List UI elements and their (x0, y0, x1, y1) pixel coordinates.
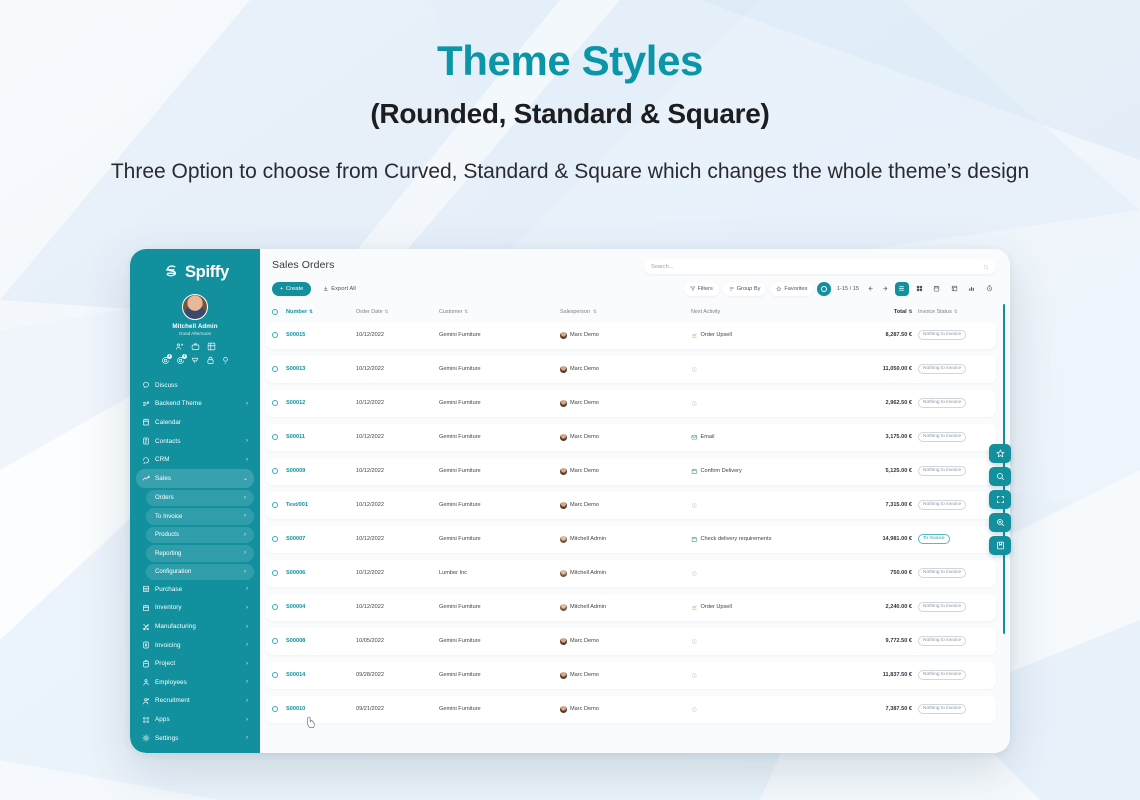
table-header: Number⇅ Order Date⇅ Customer⇅ Salesperso… (266, 302, 996, 322)
avatar (560, 536, 567, 543)
filters-button[interactable]: Filters (684, 282, 719, 296)
prev-page-button[interactable] (865, 282, 876, 296)
sidebar-item-sales[interactable]: Sales⌄ (136, 469, 254, 488)
group-by-button[interactable]: Group By (723, 282, 767, 296)
clock-icon (691, 502, 698, 509)
sidebar-item-recruitment[interactable]: Recruitment› (136, 692, 254, 711)
activity-view-button[interactable] (983, 282, 997, 296)
cell-salesperson: Marc Demo (560, 366, 691, 373)
lightbulb-icon[interactable] (221, 356, 230, 365)
search-placeholder: Search... (651, 264, 983, 270)
cell-next-activity (691, 638, 850, 645)
calendar-view-button[interactable] (930, 282, 944, 296)
sidebar-nav: DiscussBackend Theme›CalendarContacts›CR… (130, 376, 260, 753)
search-input[interactable]: Search... (644, 259, 996, 274)
avatar (560, 366, 567, 373)
quick-actions-row-1 (130, 342, 260, 351)
cell-number[interactable]: S00007 (286, 536, 356, 542)
avatar (560, 706, 567, 713)
clock-icon (691, 706, 698, 713)
badge-count: 4 (182, 354, 187, 359)
cell-customer: Gemini Furniture (439, 706, 560, 712)
pager-label: 1-15 / 15 (835, 286, 861, 292)
clock-icon (691, 570, 698, 577)
cell-invoice-status: To Invoice (912, 534, 990, 544)
status-badge: Nothing to invoice (918, 398, 966, 408)
cell-next-activity (691, 672, 850, 679)
cell-order-date: 10/05/2022 (356, 638, 439, 644)
sidebar-item-label: CRM (155, 456, 241, 463)
favorite-star-button[interactable] (989, 444, 1011, 463)
avatar[interactable] (182, 294, 208, 320)
table-row[interactable]: S0000810/05/2022Gemini FurnitureMarc Dem… (266, 628, 996, 655)
chevron-right-icon: › (244, 513, 246, 519)
sidebar-item-label: Apps (155, 716, 241, 723)
cell-order-date: 10/12/2022 (356, 502, 439, 508)
floating-action-rail (989, 444, 1011, 555)
cell-salesperson: Marc Demo (560, 672, 691, 679)
avatar (560, 468, 567, 475)
table-row[interactable]: S0001009/21/2022Gemini FurnitureMarc Dem… (266, 696, 996, 723)
chat-bubble-icon[interactable]: 4 (176, 356, 185, 365)
table-row[interactable]: S0001310/12/2022Gemini FurnitureMarc Dem… (266, 356, 996, 383)
cell-salesperson: Mitchell Admin (560, 570, 691, 577)
export-label: Export All (331, 286, 356, 292)
status-badge: Nothing to invoice (918, 568, 966, 578)
activity-label: Email (701, 434, 715, 440)
avatar (560, 570, 567, 577)
pivot-view-button[interactable] (948, 282, 962, 296)
cell-number[interactable]: S00014 (286, 672, 356, 678)
cell-total: 5,125.00 € (850, 468, 912, 474)
sidebar-item-crm[interactable]: CRM› (136, 450, 254, 469)
chevron-right-icon: › (246, 642, 248, 648)
cell-invoice-status: Nothing to invoice (912, 398, 990, 408)
cell-salesperson: Mitchell Admin (560, 604, 691, 611)
gear-icon (142, 734, 150, 742)
cell-order-date: 10/12/2022 (356, 366, 439, 372)
cell-salesperson: Marc Demo (560, 502, 691, 509)
funnel-icon (690, 286, 696, 292)
cell-total: 750.00 € (850, 570, 912, 576)
sidebar-item-label: Sales (155, 475, 238, 482)
cell-total: 11,050.00 € (850, 366, 912, 372)
column-header-order-date[interactable]: Order Date⇅ (356, 309, 439, 315)
calendar-icon (691, 536, 698, 543)
cell-order-date: 10/12/2022 (356, 570, 439, 576)
cell-customer: Gemini Furniture (439, 366, 560, 372)
calendar-icon (691, 468, 698, 475)
palette-icon (142, 400, 150, 408)
sidebar-item-inventory[interactable]: Inventory› (136, 599, 254, 618)
table-row[interactable]: S0000710/12/2022Gemini FurnitureMitchell… (266, 526, 996, 553)
chat-icon (142, 381, 150, 389)
table-row[interactable]: S0000910/12/2022Gemini FurnitureMarc Dem… (266, 458, 996, 485)
column-header-salesperson[interactable]: Salesperson⇅ (560, 309, 691, 315)
cell-next-activity (691, 502, 850, 509)
sidebar-subitem-to-invoice[interactable]: To Invoice› (146, 508, 254, 525)
sidebar-subitem-products[interactable]: Products› (146, 527, 254, 544)
chevron-down-icon: ⌄ (243, 475, 248, 482)
sidebar-item-discuss[interactable]: Discuss (136, 376, 254, 395)
handshake-icon (142, 456, 150, 464)
chevron-right-icon: › (246, 586, 248, 592)
salesperson-name: Mitchell Admin (570, 604, 606, 610)
cell-total: 2,240.00 € (850, 604, 912, 610)
next-page-button[interactable] (880, 282, 891, 296)
chevron-right-icon: › (246, 679, 248, 685)
page-title: Theme Styles (0, 0, 1140, 82)
sidebar-item-employees[interactable]: Employees› (136, 673, 254, 692)
cell-number[interactable]: Test/001 (286, 502, 356, 508)
row-checkbox[interactable] (272, 502, 278, 508)
salesperson-name: Mitchell Admin (570, 570, 606, 576)
cell-invoice-status: Nothing to invoice (912, 432, 990, 442)
sidebar-item-label: Invoicing (155, 642, 241, 649)
status-badge: Nothing to invoice (918, 602, 966, 612)
cell-order-date: 10/12/2022 (356, 604, 439, 610)
cell-total: 7,315.00 € (850, 502, 912, 508)
chevron-right-icon: › (244, 550, 246, 556)
sidebar-item-label: Project (155, 660, 241, 667)
table-row[interactable]: S0001510/12/2022Gemini FurnitureMarc Dem… (266, 322, 996, 349)
cell-invoice-status: Nothing to invoice (912, 466, 990, 476)
cell-invoice-status: Nothing to invoice (912, 704, 990, 714)
star-icon (776, 286, 782, 292)
badge-count: 3 (167, 354, 172, 359)
status-badge: Nothing to invoice (918, 466, 966, 476)
avatar (560, 332, 567, 339)
cell-salesperson: Marc Demo (560, 332, 691, 339)
cell-total: 9,772.50 € (850, 638, 912, 644)
salesperson-name: Mitchell Admin (570, 536, 606, 542)
sidebar-item-label: Calendar (155, 419, 248, 426)
user-plus-icon (142, 697, 150, 705)
sidebar-subitem-orders[interactable]: Orders› (146, 490, 254, 507)
app-window: Spiffy Mitchell Admin Good Afternoon (130, 249, 1010, 753)
cell-invoice-status: Nothing to invoice (912, 330, 990, 340)
row-checkbox[interactable] (272, 332, 278, 338)
cell-total: 7,387.50 € (850, 706, 912, 712)
sidebar-item-label: Backend Theme (155, 400, 241, 407)
upsell-chart-icon (691, 332, 698, 339)
apps-grid-icon[interactable] (207, 342, 216, 351)
salesperson-name: Marc Demo (570, 434, 599, 440)
employee-icon (142, 678, 150, 686)
cell-next-activity: Check delivery requirements (691, 536, 850, 543)
cell-customer: Gemini Furniture (439, 400, 560, 406)
profile-greeting: Good Afternoon (130, 331, 260, 336)
main-content: Sales Orders Search... + Create (260, 249, 1010, 753)
sidebar-item-label: Discuss (155, 382, 248, 389)
profile-name: Mitchell Admin (130, 323, 260, 330)
lock-icon[interactable] (206, 356, 215, 365)
cell-next-activity (691, 570, 850, 577)
status-badge: Nothing to invoice (918, 704, 966, 714)
cell-salesperson: Marc Demo (560, 706, 691, 713)
sidebar-item-label: Manufacturing (155, 623, 241, 630)
briefcase-icon[interactable] (191, 342, 200, 351)
view-title: Sales Orders (272, 259, 334, 271)
cell-customer: Gemini Furniture (439, 502, 560, 508)
cell-salesperson: Marc Demo (560, 468, 691, 475)
cell-salesperson: Mitchell Admin (560, 536, 691, 543)
select-all-checkbox[interactable] (272, 309, 278, 315)
chevron-right-icon: › (244, 532, 246, 538)
status-badge: Nothing to invoice (918, 636, 966, 646)
brand-name: Spiffy (185, 263, 229, 282)
cell-number[interactable]: S00010 (286, 706, 356, 712)
cell-number[interactable]: S00011 (286, 434, 356, 440)
sidebar-item-label: Inventory (155, 604, 241, 611)
page-description: Three Option to choose from Curved, Stan… (0, 158, 1140, 186)
cell-order-date: 10/12/2022 (356, 400, 439, 406)
chevron-right-icon: › (246, 624, 248, 630)
kanban-view-button[interactable] (913, 282, 927, 296)
status-badge: Nothing to invoice (918, 670, 966, 680)
graph-view-button[interactable] (965, 282, 979, 296)
salesperson-name: Marc Demo (570, 468, 599, 474)
cell-next-activity: Order Upsell (691, 332, 850, 339)
row-checkbox[interactable] (272, 638, 278, 644)
control-bar: Sales Orders Search... + Create (260, 249, 1010, 302)
row-checkbox[interactable] (272, 604, 278, 610)
row-checkbox[interactable] (272, 570, 278, 576)
cell-number[interactable]: S00006 (286, 570, 356, 576)
cell-total: 11,837.50 € (850, 672, 912, 678)
invoice-icon (142, 641, 150, 649)
chevron-right-icon: › (246, 605, 248, 611)
sidebar-subitem-label: Products (155, 531, 244, 538)
sidebar-subitem-label: To Invoice (155, 513, 244, 520)
chevron-right-icon: › (246, 438, 248, 444)
cell-customer: Gemini Furniture (439, 468, 560, 474)
sidebar-item-label: Purchase (155, 586, 241, 593)
cell-customer: Gemini Furniture (439, 604, 560, 610)
column-header-next-activity[interactable]: Next Activity (691, 309, 850, 315)
cell-number[interactable]: S00009 (286, 468, 356, 474)
status-badge: Nothing to invoice (918, 500, 966, 510)
plus-icon: + (280, 286, 283, 292)
sidebar: Spiffy Mitchell Admin Good Afternoon (130, 249, 260, 753)
fullscreen-button[interactable] (989, 490, 1011, 509)
clock-icon (691, 400, 698, 407)
cell-invoice-status: Nothing to invoice (912, 500, 990, 510)
spinner-icon[interactable] (817, 282, 831, 296)
sidebar-item-label: Contacts (155, 438, 241, 445)
column-header-number[interactable]: Number⇅ (286, 309, 356, 315)
sidebar-subitem-reporting[interactable]: Reporting› (146, 545, 254, 562)
row-checkbox[interactable] (272, 706, 278, 712)
group-by-label: Group By (737, 286, 761, 292)
sidebar-item-purchase[interactable]: Purchase› (136, 580, 254, 599)
search-button[interactable] (989, 467, 1011, 486)
quick-actions-row-2: 3 4 (130, 356, 260, 365)
cell-number[interactable]: S00012 (286, 400, 356, 406)
cell-number[interactable]: S00008 (286, 638, 356, 644)
cell-next-activity (691, 400, 850, 407)
filters-label: Filters (698, 286, 713, 292)
cell-order-date: 09/21/2022 (356, 706, 439, 712)
salesperson-name: Marc Demo (570, 502, 599, 508)
table-row[interactable]: S0001409/28/2022Gemini FurnitureMarc Dem… (266, 662, 996, 689)
cell-number[interactable]: S00013 (286, 366, 356, 372)
cell-invoice-status: Nothing to invoice (912, 636, 990, 646)
cell-customer: Gemini Furniture (439, 672, 560, 678)
cell-total: 8,287.50 € (850, 332, 912, 338)
cell-invoice-status: Nothing to invoice (912, 670, 990, 680)
sidebar-item-project[interactable]: Project› (136, 654, 254, 673)
cell-order-date: 10/12/2022 (356, 434, 439, 440)
bookmark-button[interactable] (989, 536, 1011, 555)
search-icon[interactable] (983, 264, 989, 270)
cell-number[interactable]: S00015 (286, 332, 356, 338)
favorites-button[interactable]: Favorites (770, 282, 813, 296)
salesperson-name: Marc Demo (570, 400, 599, 406)
cell-order-date: 09/28/2022 (356, 672, 439, 678)
spiffy-s-logo-icon (161, 262, 181, 282)
cell-next-activity: Order Upsell (691, 604, 850, 611)
cell-customer: Lumber Inc (439, 570, 560, 576)
sidebar-item-label: Employees (155, 679, 241, 686)
sidebar-item-contacts[interactable]: Contacts› (136, 432, 254, 451)
cell-invoice-status: Nothing to invoice (912, 568, 990, 578)
mouse-cursor (306, 716, 317, 730)
cell-number[interactable]: S00004 (286, 604, 356, 610)
users-group-icon[interactable] (175, 342, 184, 351)
clock-icon (691, 366, 698, 373)
status-badge: To Invoice (918, 534, 950, 544)
activity-label: Order Upsell (701, 604, 732, 610)
row-checkbox[interactable] (272, 536, 278, 542)
export-all-button[interactable]: Export All (316, 282, 363, 296)
activity-label: Order Upsell (701, 332, 732, 338)
list-icon (729, 286, 735, 292)
chevron-right-icon: › (246, 457, 248, 463)
salesperson-name: Marc Demo (570, 638, 599, 644)
list-view-button[interactable] (895, 282, 909, 296)
cell-customer: Gemini Furniture (439, 638, 560, 644)
sidebar-item-manufacturing[interactable]: Manufacturing› (136, 617, 254, 636)
avatar (560, 604, 567, 611)
column-header-total[interactable]: Total⇅ (850, 309, 912, 315)
column-header-customer[interactable]: Customer⇅ (439, 309, 560, 315)
cell-total: 3,175.00 € (850, 434, 912, 440)
salesperson-name: Marc Demo (570, 672, 599, 678)
contact-card-icon (142, 437, 150, 445)
status-badge: Nothing to invoice (918, 432, 966, 442)
table-row[interactable]: S0000610/12/2022Lumber IncMitchell Admin… (266, 560, 996, 587)
chevron-right-icon: › (246, 661, 248, 667)
table-row[interactable]: S0001210/12/2022Gemini FurnitureMarc Dem… (266, 390, 996, 417)
email-icon (691, 434, 698, 441)
cell-invoice-status: Nothing to invoice (912, 364, 990, 374)
chevron-right-icon: › (246, 401, 248, 407)
table-body: S0001510/12/2022Gemini FurnitureMarc Dem… (266, 322, 996, 723)
cell-next-activity (691, 366, 850, 373)
hero-section: Theme Styles (Rounded, Standard & Square… (0, 0, 1140, 186)
cell-total: 14,981.00 € (850, 536, 912, 542)
megaphone-icon[interactable] (191, 356, 200, 365)
chat-bubble-icon[interactable]: 3 (161, 356, 170, 365)
avatar (560, 638, 567, 645)
zoom-button[interactable] (989, 513, 1011, 532)
row-checkbox[interactable] (272, 366, 278, 372)
chevron-right-icon: › (244, 569, 246, 575)
salesperson-name: Marc Demo (570, 706, 599, 712)
sidebar-item-label: Settings (155, 735, 241, 742)
avatar (560, 672, 567, 679)
row-checkbox[interactable] (272, 400, 278, 406)
calendar-icon (142, 418, 150, 426)
activity-label: Confirm Delivery (701, 468, 742, 474)
sidebar-subitem-label: Orders (155, 494, 244, 501)
cell-customer: Gemini Furniture (439, 536, 560, 542)
salesperson-name: Marc Demo (570, 366, 599, 372)
clock-icon (691, 672, 698, 679)
chart-line-icon (142, 474, 150, 482)
boxes-icon (142, 604, 150, 612)
download-icon (323, 286, 329, 292)
avatar (560, 434, 567, 441)
chevron-right-icon: › (244, 495, 246, 501)
upsell-chart-icon (691, 604, 698, 611)
cell-customer: Gemini Furniture (439, 332, 560, 338)
page-subtitle: (Rounded, Standard & Square) (0, 98, 1140, 130)
favorites-label: Favorites (784, 286, 807, 292)
cell-order-date: 10/12/2022 (356, 468, 439, 474)
sidebar-item-calendar[interactable]: Calendar (136, 413, 254, 432)
sidebar-subitem-configuration[interactable]: Configuration› (146, 564, 254, 581)
cell-next-activity: Confirm Delivery (691, 468, 850, 475)
chevron-right-icon: › (246, 698, 248, 704)
cell-invoice-status: Nothing to invoice (912, 602, 990, 612)
table-row[interactable]: S0000410/12/2022Gemini FurnitureMitchell… (266, 594, 996, 621)
cell-salesperson: Marc Demo (560, 434, 691, 441)
create-button[interactable]: + Create (272, 282, 311, 296)
table-row[interactable]: Test/00110/12/2022Gemini FurnitureMarc D… (266, 492, 996, 519)
cell-next-activity (691, 706, 850, 713)
view-controls: Filters Group By Favorites (684, 282, 996, 296)
brand-logo[interactable]: Spiffy (130, 249, 260, 290)
table-container[interactable]: Number⇅ Order Date⇅ Customer⇅ Salesperso… (260, 302, 1010, 754)
sidebar-item-backend-theme[interactable]: Backend Theme› (136, 395, 254, 414)
cell-order-date: 10/12/2022 (356, 536, 439, 542)
sidebar-subitem-label: Configuration (155, 568, 244, 575)
status-badge: Nothing to invoice (918, 330, 966, 340)
sidebar-item-invoicing[interactable]: Invoicing› (136, 636, 254, 655)
create-label: Create (286, 286, 303, 292)
salesperson-name: Marc Demo (570, 332, 599, 338)
cell-salesperson: Marc Demo (560, 638, 691, 645)
receipt-icon (142, 585, 150, 593)
sidebar-item-settings[interactable]: Settings› (136, 729, 254, 748)
row-checkbox[interactable] (272, 672, 278, 678)
row-checkbox[interactable] (272, 434, 278, 440)
status-badge: Nothing to invoice (918, 364, 966, 374)
row-checkbox[interactable] (272, 468, 278, 474)
chevron-right-icon: › (246, 735, 248, 741)
cell-salesperson: Marc Demo (560, 400, 691, 407)
chevron-right-icon: › (246, 717, 248, 723)
column-header-invoice-status[interactable]: Invoice Status⇅ (912, 309, 990, 315)
sidebar-item-apps[interactable]: Apps› (136, 710, 254, 729)
cell-next-activity: Email (691, 434, 850, 441)
avatar (560, 502, 567, 509)
table-row[interactable]: S0001110/12/2022Gemini FurnitureMarc Dem… (266, 424, 996, 451)
sidebar-subitem-label: Reporting (155, 550, 244, 557)
cell-customer: Gemini Furniture (439, 434, 560, 440)
